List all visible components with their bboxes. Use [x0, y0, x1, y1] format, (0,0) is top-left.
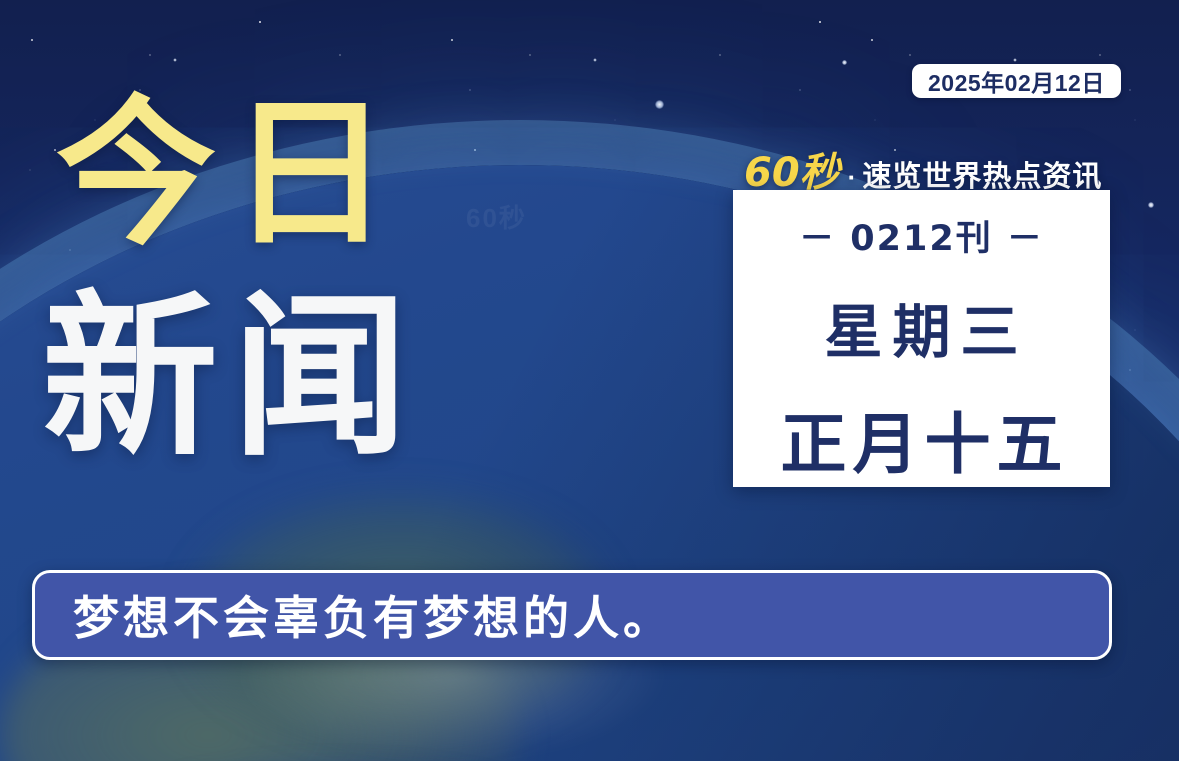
page-title-line-1: 今日: [56, 96, 404, 253]
issue-number: － 0212刊 －: [799, 210, 1044, 261]
tagline-subtitle: 速览世界热点资讯: [862, 153, 1102, 195]
info-card: － 0212刊 － 星期三 正月十五: [733, 190, 1110, 487]
quote-box: 梦想不会辜负有梦想的人。: [32, 570, 1112, 660]
star-glow-icon: [1148, 202, 1154, 208]
watermark-text: 60秒: [466, 198, 527, 235]
tagline-separator: ·: [848, 162, 857, 193]
date-badge: 2025年02月12日: [912, 64, 1121, 98]
star-glow-icon: [842, 60, 847, 65]
page-title-line-2: 新闻: [42, 292, 422, 464]
weekday-label: 星期三: [814, 285, 1028, 369]
lunar-date-label: 正月十五: [775, 391, 1069, 487]
star-glow-icon: [655, 100, 664, 109]
quote-text: 梦想不会辜负有梦想的人。: [73, 582, 673, 648]
poster-canvas: 60秒 2025年02月12日 今日 新闻 60秒 · 速览世界热点资讯 － 0…: [0, 0, 1179, 761]
